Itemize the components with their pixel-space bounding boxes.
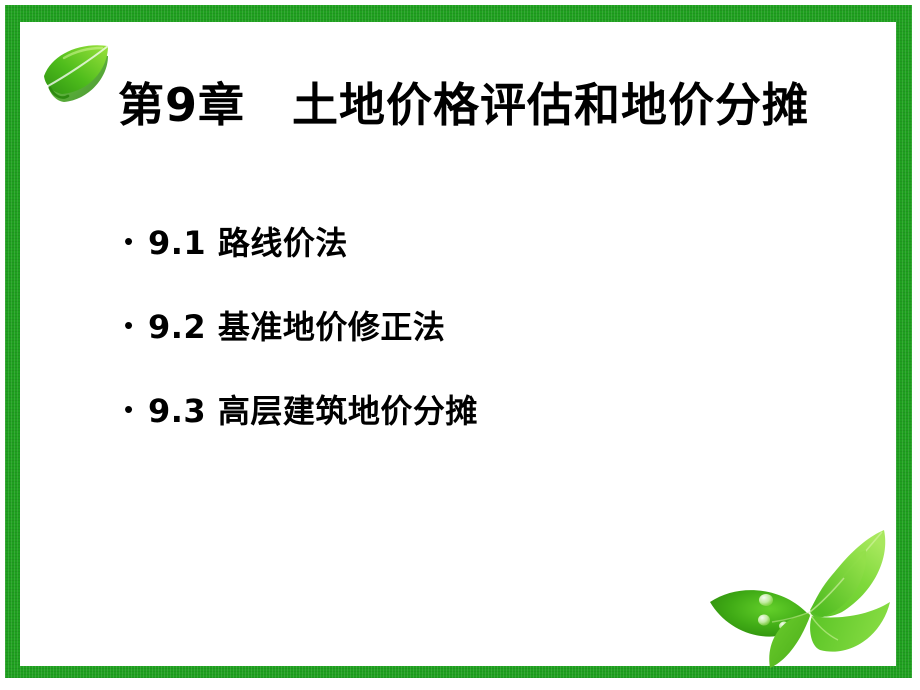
leaf-cluster-icon [660,520,906,670]
list-item[interactable]: • 9.3 高层建筑地价分摊 [124,386,824,470]
bullet-marker-icon: • [124,396,148,422]
bullet-marker-icon: • [124,228,148,254]
list-item[interactable]: • 9.2 基准地价修正法 [124,302,824,386]
list-item[interactable]: • 9.1 路线价法 [124,218,824,302]
bullet-text: 9.2 基准地价修正法 [148,302,445,348]
frame-border-top [5,5,912,22]
bullet-list: • 9.1 路线价法 • 9.2 基准地价修正法 • 9.3 高层建筑地价分摊 [124,218,824,470]
slide-canvas: 第9章 土地价格评估和地价分摊 • 9.1 路线价法 • 9.2 基准地价修正法… [0,0,920,690]
leaf-icon [38,38,124,112]
bullet-text: 9.1 路线价法 [148,218,348,264]
bullet-text: 9.3 高层建筑地价分摊 [148,386,478,432]
frame-border-left [5,5,20,678]
title-row: 第9章 土地价格评估和地价分摊 [118,55,908,155]
page-title: 第9章 土地价格评估和地价分摊 [118,82,809,128]
bullet-marker-icon: • [124,312,148,338]
